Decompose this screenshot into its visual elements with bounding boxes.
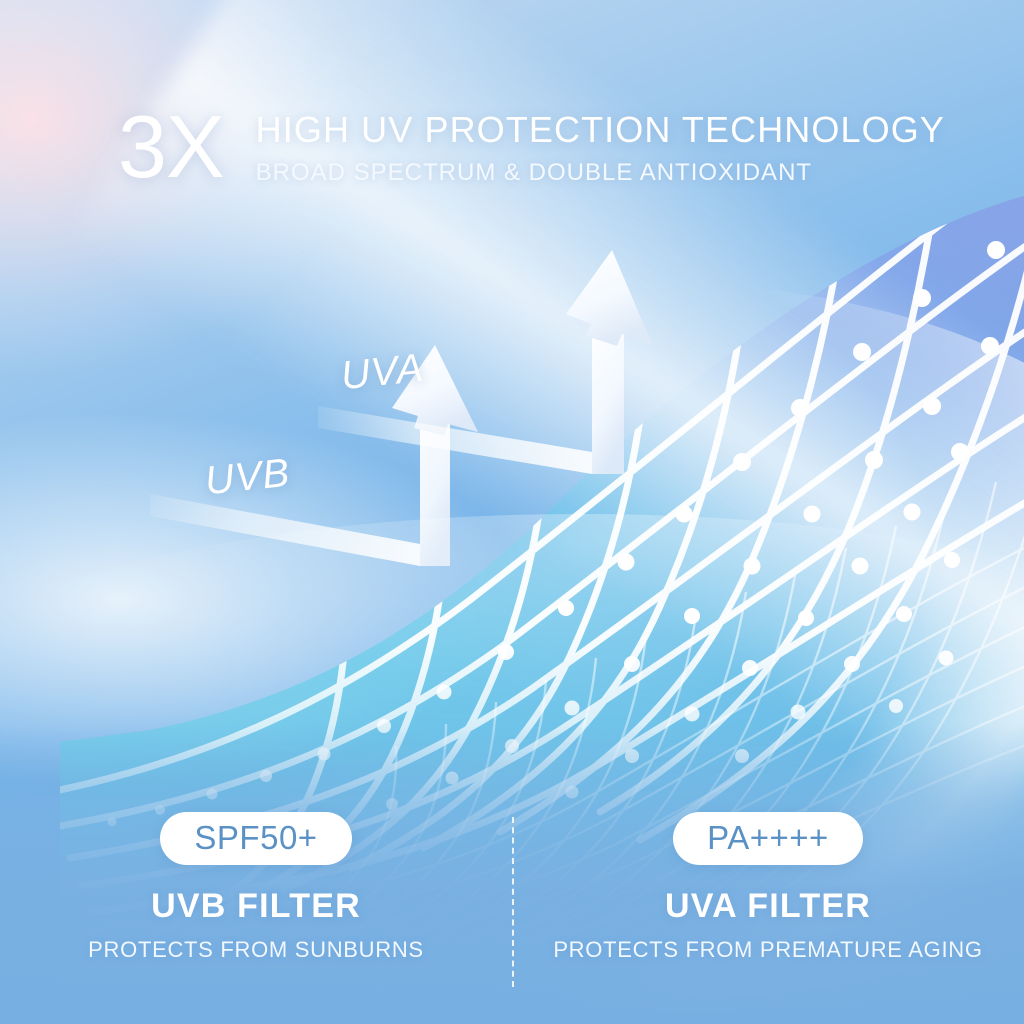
pa-badge[interactable]: PA++++ bbox=[673, 812, 863, 865]
uvb-filter-title: UVB FILTER bbox=[151, 887, 361, 925]
ray-label-uva: UVA bbox=[339, 346, 426, 399]
ray-label-uvb: UVB bbox=[203, 451, 292, 505]
spf-badge[interactable]: SPF50+ bbox=[160, 812, 351, 865]
uvb-filter-subtitle: PROTECTS FROM SUNBURNS bbox=[88, 937, 424, 963]
poster-canvas: UVA UVB 3X HIGH UV PROTECTION TECHNOLOGY… bbox=[0, 0, 1024, 1024]
page-title: HIGH UV PROTECTION TECHNOLOGY bbox=[256, 110, 945, 150]
feature-column-uvb: SPF50+ UVB FILTER PROTECTS FROM SUNBURNS bbox=[0, 799, 512, 1024]
spf-badge-label: SPF50+ bbox=[194, 819, 317, 856]
page-subtitle: BROAD SPECTRUM & DOUBLE ANTIOXIDANT bbox=[256, 159, 945, 187]
pa-badge-label: PA++++ bbox=[707, 819, 829, 856]
uva-filter-subtitle: PROTECTS FROM PREMATURE AGING bbox=[553, 937, 982, 963]
feature-panel: SPF50+ UVB FILTER PROTECTS FROM SUNBURNS… bbox=[0, 799, 1024, 1024]
uvb-arrow bbox=[150, 345, 478, 566]
feature-column-uva: PA++++ UVA FILTER PROTECTS FROM PREMATUR… bbox=[512, 799, 1024, 1024]
multiplier-badge: 3X bbox=[118, 104, 224, 190]
uva-filter-title: UVA FILTER bbox=[665, 887, 871, 925]
